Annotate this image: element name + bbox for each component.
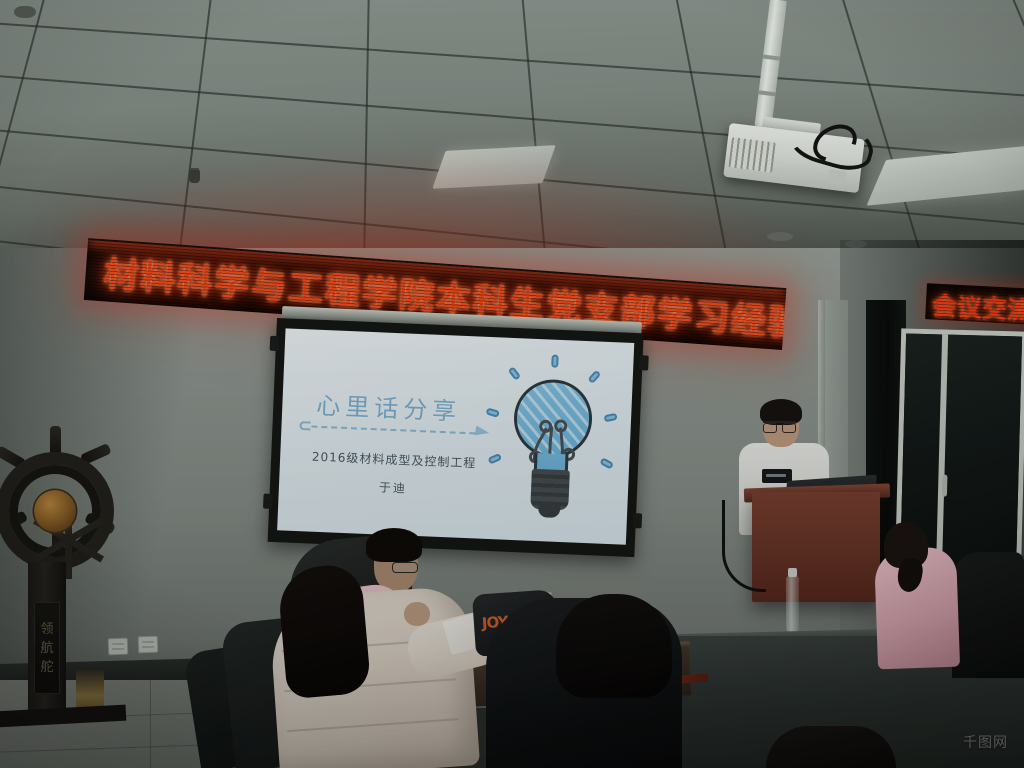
smoke-detector-icon (767, 232, 793, 241)
led-sign-secondary: 会议交流 (925, 283, 1024, 325)
glasses-icon (763, 421, 796, 429)
plaque-char-1: 领 (40, 623, 53, 636)
projection-screen: 心里话分享 2016级材料成型及控制工程 于迪 (268, 318, 644, 557)
ceiling-fixture-icon (14, 6, 36, 18)
window-handle[interactable] (942, 475, 948, 497)
ceiling-light-panel (432, 145, 555, 189)
light-bulb-icon (473, 353, 630, 537)
presentation-slide: 心里话分享 2016级材料成型及控制工程 于迪 (277, 328, 634, 544)
plaque-char-2: 航 (40, 642, 53, 655)
suspended-ceiling (0, 0, 1024, 262)
ship-wheel-plaque: 领 航 舵 (34, 602, 60, 694)
lectern (752, 492, 880, 602)
wall-outlet-2[interactable] (138, 636, 159, 654)
lecture-room-photo: 材料科学与工程学院本科生党支部学习经验分享交流会 会议交流 心里话分享 2016… (0, 0, 1024, 768)
led-sign-secondary-text: 会议交流 (931, 286, 1024, 324)
ship-wheel-decoration: 领 航 舵 (0, 424, 126, 704)
watermark: 千图网 (963, 732, 1008, 752)
audience-person-hand (404, 602, 430, 626)
slide-presenter-name: 于迪 (303, 475, 484, 500)
slide-subtitle: 2016级材料成型及控制工程 (304, 447, 485, 472)
glasses-icon (392, 562, 418, 573)
audience-person-dark-right (952, 552, 1024, 678)
ship-wheel-hub (34, 490, 76, 532)
bottle-cap-icon (788, 568, 797, 577)
slide-title: 心里话分享 (316, 386, 462, 427)
sprinkler-icon (189, 170, 200, 183)
projector-lens-icon (827, 169, 846, 184)
water-bottle[interactable] (786, 576, 799, 632)
audience-person-foreground-head (556, 594, 672, 698)
plaque-char-3: 舵 (40, 661, 53, 674)
audience-person-bottom-right (766, 726, 896, 768)
audience-person-puffer-head (276, 563, 371, 700)
